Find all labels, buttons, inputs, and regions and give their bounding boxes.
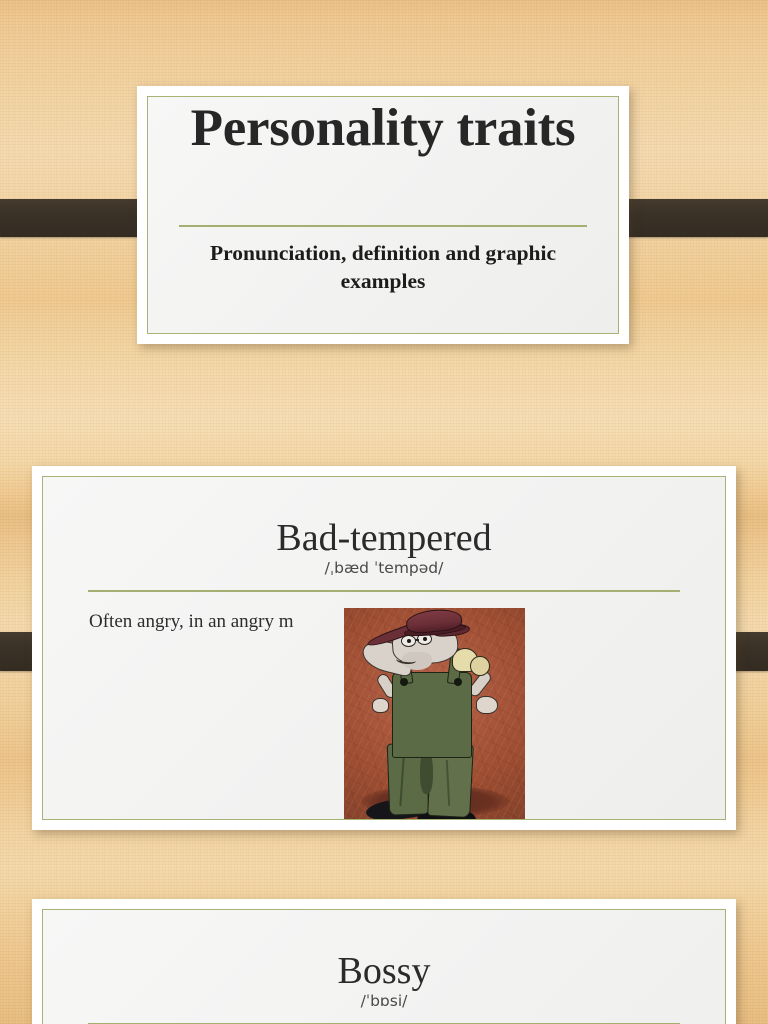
slide-title[interactable]: Personality traits Pronunciation, defini… <box>137 86 629 344</box>
page-subtitle: Pronunciation, definition and graphic ex… <box>176 240 590 296</box>
figure-overalls-button-left <box>400 678 408 686</box>
figure-pupil-right <box>423 637 427 641</box>
word-title: Bad-tempered <box>43 519 725 559</box>
figure-overalls-button-right <box>454 678 462 686</box>
word-phonetic-transcription: /ˌbæd ˈtempəd/ <box>43 559 725 577</box>
decorative-ribbon-right-title <box>612 199 768 237</box>
decorative-ribbon-left-title <box>0 199 158 237</box>
word-phonetic-transcription: /ˈbɒsi/ <box>43 992 725 1010</box>
figure-eyeglass-bridge <box>415 639 419 641</box>
slide-bad-tempered[interactable]: Bad-tempered /ˌbæd ˈtempəd/ Often angry,… <box>32 466 736 830</box>
title-divider <box>179 225 587 227</box>
angry-old-man-cartoon-image: Cartoon of a scowling old man wearing a … <box>344 608 525 820</box>
page-title: Personality traits <box>148 99 618 159</box>
word-divider <box>88 590 680 592</box>
figure-sleeve-right-roll <box>470 656 490 676</box>
slide-bossy-frame: Bossy /ˈbɒsi/ <box>42 909 726 1024</box>
figure-hand-right <box>476 696 498 714</box>
slide-bossy[interactable]: Bossy /ˈbɒsi/ <box>32 899 736 1024</box>
word-title: Bossy <box>43 952 725 992</box>
slide-title-frame: Personality traits Pronunciation, defini… <box>147 96 619 334</box>
figure-hand-left <box>372 698 389 713</box>
figure-pupil-left <box>407 639 411 643</box>
slide-bad-tempered-frame: Bad-tempered /ˌbæd ˈtempəd/ Often angry,… <box>42 476 726 820</box>
